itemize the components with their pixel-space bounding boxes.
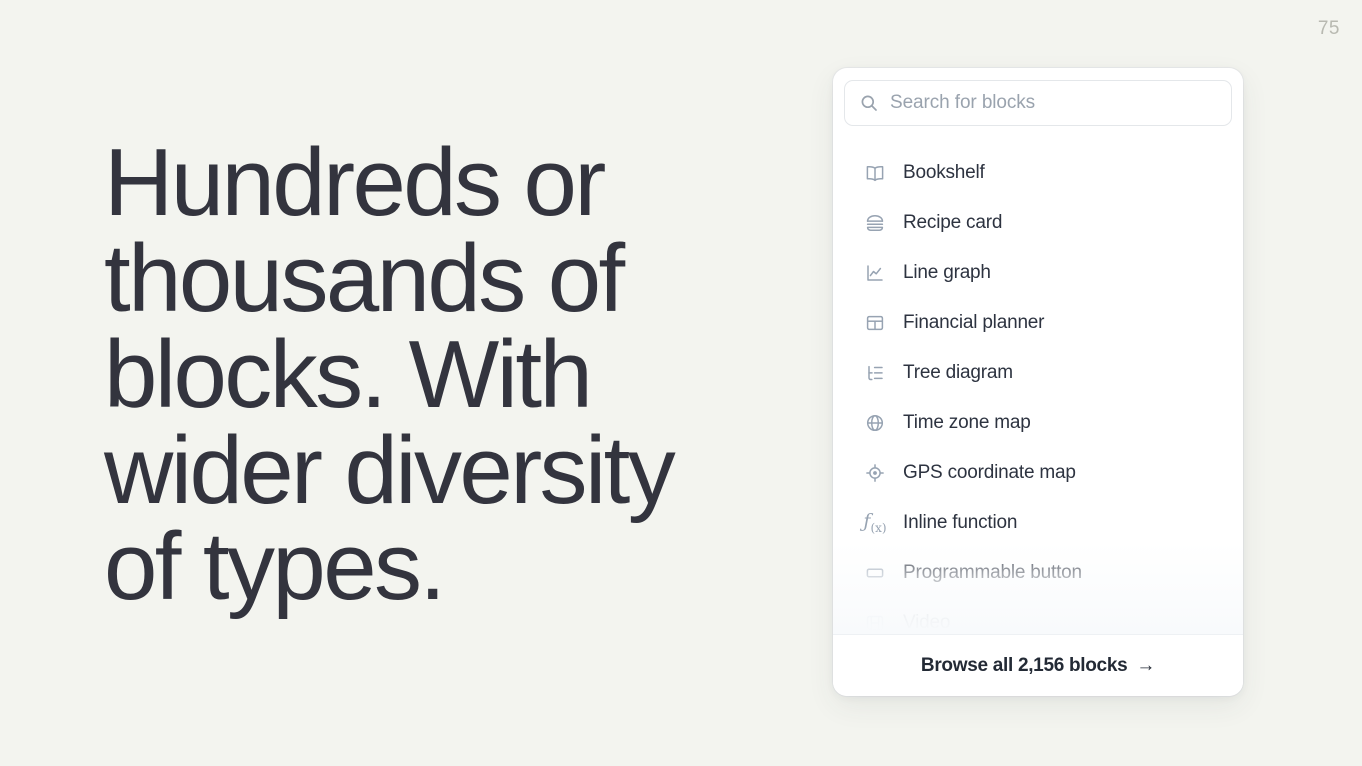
list-item-label: Bookshelf [903,162,985,184]
crosshair-icon [863,461,887,485]
slide: 75 Hundreds or thousands of blocks. With… [0,0,1362,766]
burger-stack-icon [863,211,887,235]
list-item-label: Time zone map [903,412,1031,434]
block-picker-panel: Search for blocks Bookshelf [833,68,1243,696]
list-item-label: GPS coordinate map [903,462,1076,484]
search-placeholder: Search for blocks [890,92,1035,114]
globe-icon [863,411,887,435]
panel-footer: Browse all 2,156 blocks → [833,634,1243,696]
film-frame-icon [863,611,887,634]
line-chart-icon [863,261,887,285]
list-item-time-zone-map[interactable]: Time zone map [833,398,1243,448]
list-item-bookshelf[interactable]: Bookshelf [833,148,1243,198]
list-item-recipe-card[interactable]: Recipe card [833,198,1243,248]
search-container: Search for blocks [833,68,1243,126]
list-item-label: Tree diagram [903,362,1013,384]
table-grid-icon [863,311,887,335]
list-item-inline-function[interactable]: ƒ(x) Inline function [833,498,1243,548]
list-item-label: Programmable button [903,562,1082,584]
list-item-label: Video [903,612,950,634]
list-item-tree-diagram[interactable]: Tree diagram [833,348,1243,398]
search-input[interactable]: Search for blocks [844,80,1232,126]
list-item-programmable-button[interactable]: Programmable button [833,548,1243,598]
browse-all-blocks-button[interactable]: Browse all 2,156 blocks → [921,655,1155,677]
rectangle-icon [863,561,887,585]
list-item-financial-planner[interactable]: Financial planner [833,298,1243,348]
page-number: 75 [1318,18,1340,40]
block-list[interactable]: Bookshelf Recipe card [833,126,1243,634]
arrow-right-icon: → [1136,655,1155,677]
list-item-video[interactable]: Video [833,598,1243,634]
tree-list-icon [863,361,887,385]
list-item-label: Inline function [903,512,1017,534]
list-item-line-graph[interactable]: Line graph [833,248,1243,298]
page-title: Hundreds or thousands of blocks. With wi… [104,135,764,615]
book-open-icon [863,161,887,185]
list-item-label: Financial planner [903,312,1044,334]
search-icon [860,94,878,112]
list-item-label: Line graph [903,262,991,284]
list-item-label: Recipe card [903,212,1002,234]
list-item-gps-coordinate-map[interactable]: GPS coordinate map [833,448,1243,498]
browse-all-label: Browse all 2,156 blocks [921,655,1127,677]
function-fx-icon: ƒ(x) [863,511,887,535]
